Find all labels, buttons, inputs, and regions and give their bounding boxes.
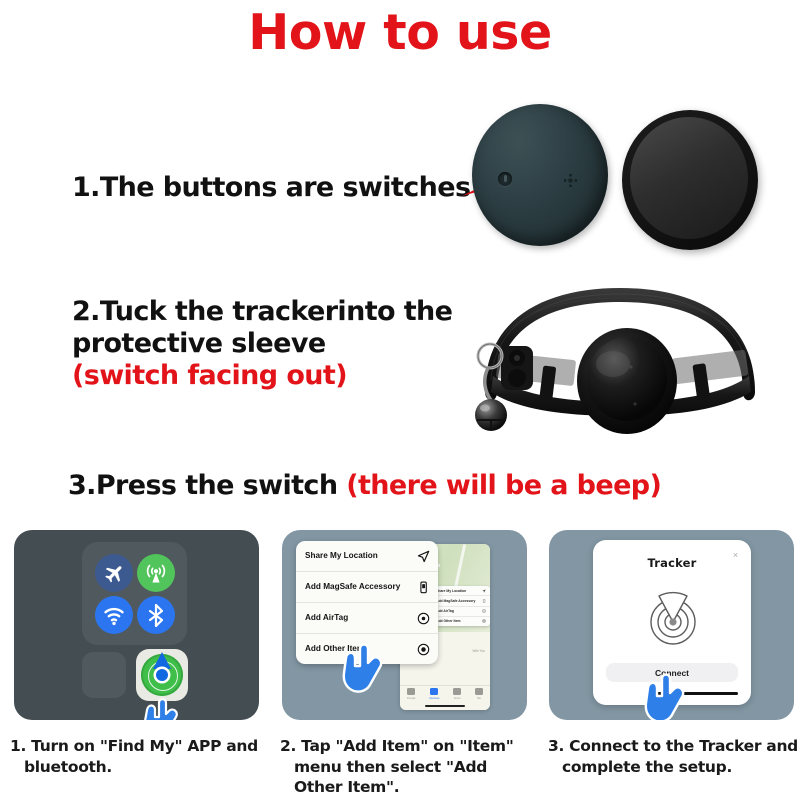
bluetooth-toggle[interactable] <box>137 596 175 634</box>
caption-line-1: 1. Turn on "Find My" APP and <box>10 737 258 755</box>
menu-item-label: Share My Location <box>305 551 417 561</box>
step-2-line1: Tuck the trackerinto the <box>100 296 453 327</box>
step-3-text: Press the switch <box>96 470 338 501</box>
tracker-front-disc <box>472 104 608 246</box>
radar-wedge <box>153 652 171 669</box>
breakaway-buckle <box>501 346 533 390</box>
tap-hand-cursor-icon <box>642 665 692 720</box>
mini-menu-label: Add MagSafe Accessory <box>436 599 475 603</box>
panel-find-my-menu: Share My Location Add MagSafe Accessory … <box>282 530 527 720</box>
cat-collar-with-tracker <box>455 280 785 458</box>
empty-control-tile <box>82 652 126 698</box>
mini-tab-bar: People Devices Items Me <box>400 686 490 702</box>
dialog-title: Tracker <box>593 556 751 570</box>
menu-item-share-my-location[interactable]: Share My Location <box>296 541 438 572</box>
tab-devices[interactable]: Devices <box>429 688 439 700</box>
power-button-icon <box>498 172 512 186</box>
location-arrow-icon <box>482 589 486 593</box>
step-3-number: 3. <box>68 470 96 501</box>
tap-hand-cursor-icon <box>142 688 188 720</box>
step-3-text-red: (there will be a beep) <box>346 470 661 501</box>
caption-step-1: 1. Turn on "Find My" APP and bluetooth. <box>10 736 260 777</box>
menu-item-add-magsafe-accessory[interactable]: Add MagSafe Accessory <box>296 572 438 603</box>
connectivity-toggle-group <box>82 542 187 645</box>
mini-menu-item[interactable]: Add AirTag <box>432 607 490 617</box>
mini-menu-label: Share My Location <box>436 589 466 593</box>
caption-step-2: 2. Tap "Add Item" on "Item" menu then se… <box>280 736 528 798</box>
airplane-mode-toggle[interactable] <box>95 554 133 592</box>
tab-label: People <box>407 696 416 700</box>
speaker-grille-icon <box>564 174 577 187</box>
step-2-line2: protective sleeve <box>72 328 492 360</box>
cellular-icon <box>137 554 175 592</box>
caption-line-2: menu then select "Add <box>280 757 528 778</box>
magsafe-wallet-icon <box>482 599 486 603</box>
bluetooth-icon <box>137 596 175 634</box>
airtag-icon <box>417 612 430 625</box>
home-indicator <box>425 705 465 708</box>
menu-item-label: Add AirTag <box>305 613 417 623</box>
mini-menu: Share My Location Add MagSafe Accessory … <box>432 586 490 626</box>
tab-label: Items <box>454 696 461 700</box>
other-item-icon <box>482 619 486 623</box>
magsafe-wallet-icon <box>417 581 430 594</box>
location-dot <box>156 669 168 681</box>
devices-icon <box>430 688 438 695</box>
cellular-data-toggle[interactable] <box>137 554 175 592</box>
step-1-number: 1. <box>72 172 100 203</box>
airplane-icon <box>95 554 133 592</box>
radar-sonar-icon <box>642 586 704 648</box>
tab-me[interactable]: Me <box>475 688 483 700</box>
me-icon <box>475 688 483 695</box>
step-2-line3: (switch facing out) <box>72 360 492 392</box>
mini-menu-label: Add Other Item <box>436 619 461 623</box>
mini-menu-item[interactable]: Add MagSafe Accessory <box>432 596 490 606</box>
mini-menu-item[interactable]: Add Other Item <box>432 617 490 626</box>
airtag-icon <box>482 609 486 613</box>
step-3-heading: 3.Press the switch (there will be a beep… <box>68 470 661 502</box>
close-icon[interactable]: × <box>730 550 741 561</box>
how-to-use-infographic: How to use 1.The buttons are switches 2.… <box>0 0 800 800</box>
caption-line-2: bluetooth. <box>10 757 260 778</box>
tracker-silicone-sleeve <box>577 328 677 434</box>
page-title: How to use <box>0 4 800 61</box>
caption-line-1: 2. Tap "Add Item" on "Item" <box>280 737 514 755</box>
mini-device-trailing: With You <box>472 649 485 653</box>
mini-menu-label: Add AirTag <box>436 609 454 613</box>
mini-menu-item[interactable]: Share My Location <box>432 586 490 596</box>
caption-line-3: Other Item". <box>280 777 528 798</box>
caption-step-3: 3. Connect to the Tracker and complete t… <box>548 736 800 777</box>
caption-line-2: complete the setup. <box>548 757 800 778</box>
tab-items[interactable]: Items <box>453 688 461 700</box>
items-icon <box>453 688 461 695</box>
step-2-number: 2. <box>72 296 100 327</box>
tracker-back-disc <box>622 110 758 250</box>
collar-bell <box>475 399 507 431</box>
wifi-toggle[interactable] <box>95 596 133 634</box>
tap-hand-cursor-icon <box>340 634 390 696</box>
step-2-heading: 2.Tuck the trackerinto the protective sl… <box>72 296 492 392</box>
menu-item-add-airtag[interactable]: Add AirTag <box>296 603 438 634</box>
other-item-icon <box>417 643 430 656</box>
menu-item-label: Add MagSafe Accessory <box>305 582 417 592</box>
panel-tracker-connect: Tracker × Connect <box>549 530 794 720</box>
panel-control-center <box>14 530 259 720</box>
location-arrow-icon <box>417 550 430 563</box>
tab-label: Devices <box>429 696 439 700</box>
caption-line-1: 3. Connect to the Tracker and <box>548 737 798 755</box>
step-1-heading: 1.The buttons are switches <box>72 172 470 204</box>
step-1-text: The buttons are switches <box>100 172 471 203</box>
people-icon <box>407 688 415 695</box>
wifi-icon <box>95 596 133 634</box>
tab-label: Me <box>477 696 481 700</box>
tab-people[interactable]: People <box>407 688 416 700</box>
